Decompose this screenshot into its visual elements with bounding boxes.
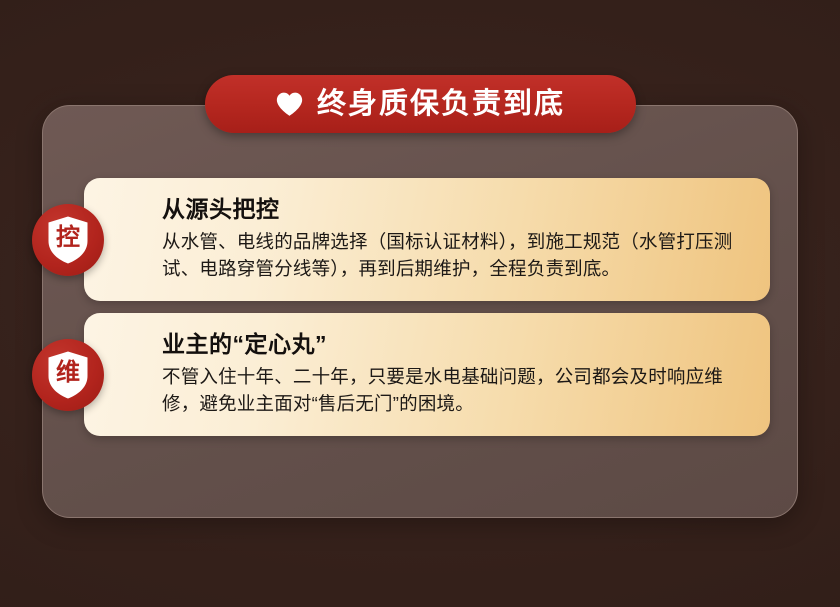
heart-icon [276,91,303,117]
badge-character: 控 [46,215,90,265]
badge-shield-control: 控 [32,204,104,276]
badge-shield-maintain: 维 [32,339,104,411]
card-body: 从水管、电线的品牌选择（国标认证材料），到施工规范（水管打压测试、电路穿管分线等… [162,228,746,284]
badge-character: 维 [46,350,90,400]
card-title: 从源头把控 [162,196,746,224]
shield-icon: 控 [46,215,90,265]
cards-list: 控 从源头把控 从水管、电线的品牌选择（国标认证材料），到施工规范（水管打压测试… [84,178,770,436]
card-title: 业主的“定心丸” [162,331,746,359]
card-item: 维 业主的“定心丸” 不管入住十年、二十年，只要是水电基础问题，公司都会及时响应… [84,313,770,436]
infographic-stage: 终身质保负责到底 控 从源头把控 从水管、电线的品牌选择（国标认证材料），到施工… [0,0,840,607]
card-item: 控 从源头把控 从水管、电线的品牌选择（国标认证材料），到施工规范（水管打压测试… [84,178,770,301]
header-badge: 终身质保负责到底 [205,75,636,133]
shield-icon: 维 [46,350,90,400]
header-title: 终身质保负责到底 [317,90,565,119]
card-body: 不管入住十年、二十年，只要是水电基础问题，公司都会及时响应维修，避免业主面对“售… [162,363,746,419]
